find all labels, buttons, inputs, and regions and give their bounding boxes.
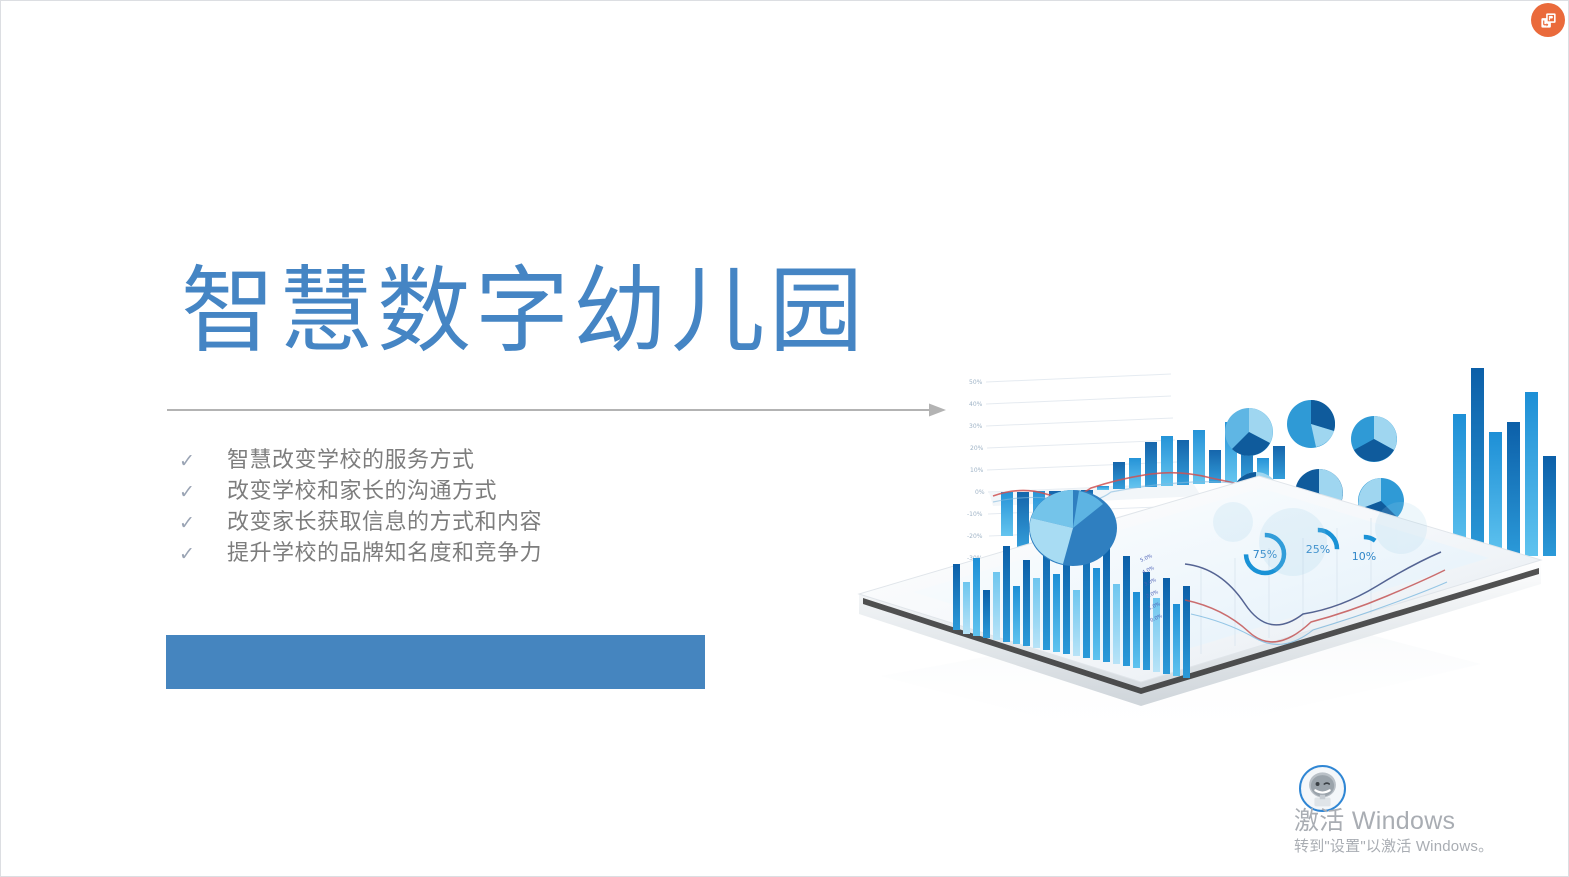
tall-bar-cluster bbox=[1453, 368, 1556, 556]
page-title: 智慧数字幼儿园 bbox=[181, 265, 867, 359]
pie-chart bbox=[1351, 416, 1397, 462]
checkmark-icon: ✓ bbox=[179, 477, 227, 508]
list-item-label: 改变家长获取信息的方式和内容 bbox=[227, 507, 542, 538]
bullet-list: ✓ 智慧改变学校的服务方式 ✓ 改变学校和家长的沟通方式 ✓ 改变家长获取信息的… bbox=[179, 445, 699, 569]
list-item: ✓ 改变家长获取信息的方式和内容 bbox=[179, 507, 699, 538]
presentation-slide: 智慧数字幼儿园 ✓ 智慧改变学校的服务方式 ✓ 改变学校和家长的沟通方式 ✓ 改… bbox=[0, 0, 1569, 877]
svg-text:50%: 50% bbox=[969, 379, 983, 386]
list-item-label: 改变学校和家长的沟通方式 bbox=[227, 476, 497, 507]
windows-activation-watermark: 激活 Windows 转到"设置"以激活 Windows。 bbox=[1294, 806, 1493, 858]
tablet-artwork-illustration: 50% 40% 30% 20% 10% 0% -10% -20% -30% bbox=[841, 346, 1569, 776]
pie-chart bbox=[1287, 400, 1335, 448]
arrow-rule bbox=[167, 399, 947, 421]
tablet-data-visualization: 50% 40% 30% 20% 10% 0% -10% -20% -30% bbox=[841, 346, 1569, 776]
arrow-rule-icon bbox=[167, 399, 947, 421]
svg-text:10%: 10% bbox=[1352, 550, 1376, 563]
svg-text:30%: 30% bbox=[969, 423, 983, 430]
content-placeholder-bar[interactable] bbox=[166, 635, 705, 689]
list-item: ✓ 改变学校和家长的沟通方式 bbox=[179, 476, 699, 507]
pie-chart bbox=[1029, 490, 1117, 566]
list-item-label: 提升学校的品牌知名度和竞争力 bbox=[227, 538, 542, 569]
list-item: ✓ 智慧改变学校的服务方式 bbox=[179, 445, 699, 476]
tablet-device bbox=[859, 476, 1541, 744]
checkmark-icon: ✓ bbox=[179, 539, 227, 570]
svg-text:10%: 10% bbox=[970, 467, 984, 474]
activation-title: 激活 Windows bbox=[1294, 806, 1493, 836]
svg-text:20%: 20% bbox=[970, 445, 984, 452]
svg-text:-10%: -10% bbox=[967, 511, 983, 518]
pie-chart bbox=[1225, 408, 1273, 456]
slides-glyph-icon bbox=[1539, 11, 1558, 30]
checkmark-icon: ✓ bbox=[179, 446, 227, 477]
svg-text:-20%: -20% bbox=[967, 533, 983, 540]
list-item: ✓ 提升学校的品牌知名度和竞争力 bbox=[179, 538, 699, 569]
presentation-app-icon[interactable] bbox=[1531, 3, 1565, 37]
checkmark-icon: ✓ bbox=[179, 508, 227, 539]
assistant-avatar[interactable] bbox=[1299, 765, 1346, 812]
list-item-label: 智慧改变学校的服务方式 bbox=[227, 445, 475, 476]
svg-text:40%: 40% bbox=[969, 401, 983, 408]
activation-subtitle: 转到"设置"以激活 Windows。 bbox=[1294, 836, 1493, 858]
svg-text:0%: 0% bbox=[975, 489, 985, 496]
robot-face-icon bbox=[1301, 767, 1344, 810]
chart-axis-labels: 50% 40% 30% 20% 10% 0% -10% -20% -30% bbox=[967, 379, 985, 562]
